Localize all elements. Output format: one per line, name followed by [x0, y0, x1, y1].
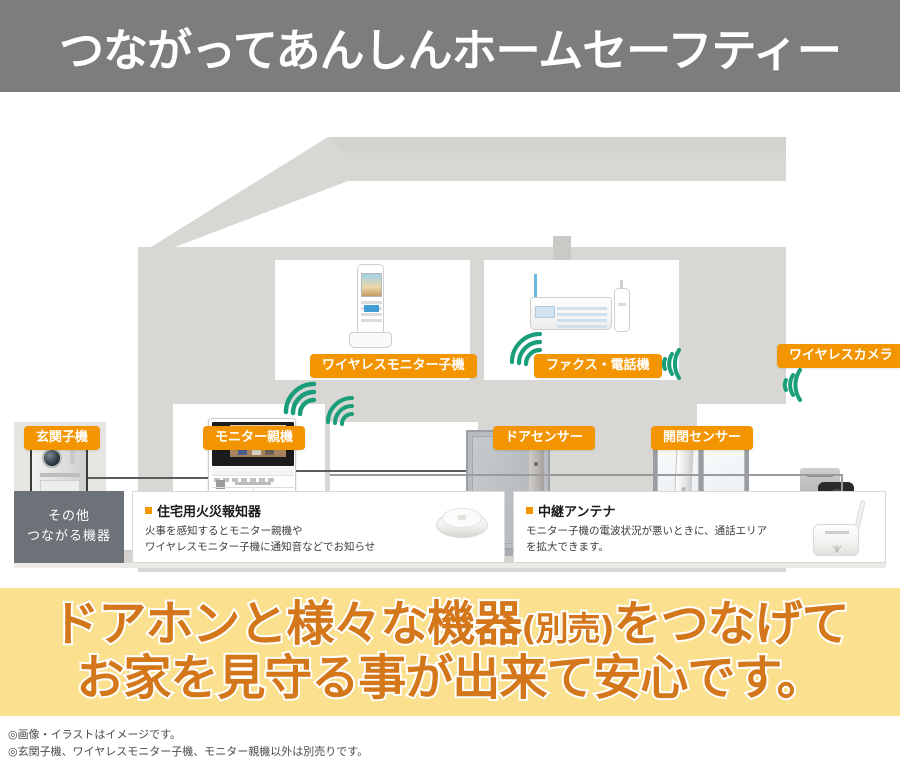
other-card-smoke-detector[interactable]: 住宅用火災報知器 火事を感知するとモニター親機や ワイヤレスモニター子機に通知音… [132, 491, 505, 563]
smoke-detector-desc-line2: ワイヤレスモニター子機に通知音などでお知らせ [145, 540, 492, 556]
label-wireless-monitor[interactable]: ワイヤレスモニター子機 [310, 354, 477, 378]
promo-banner: ドアホンと様々な機器(別売)をつなげて お家を見守る事が出来て安心です。 [0, 588, 900, 716]
monitor-button-row [212, 467, 294, 476]
smoke-detector-icon [436, 506, 488, 540]
antenna-wire-horizontal [330, 474, 843, 476]
promo-banner-line1: ドアホンと様々な機器(別売)をつなげて [51, 599, 848, 651]
wire-doorphone-to-monitor [88, 477, 208, 479]
footer-note-1: ◎画像・イラストはイメージです。 [8, 726, 888, 743]
smoke-detector-heading-text: 住宅用火災報知器 [157, 501, 261, 520]
repeater-antenna-icon [813, 500, 871, 556]
promo-banner-line2: お家を見守る事が出来て安心です。 [76, 653, 823, 705]
footer-note-2: ◎玄関子機、ワイヤレスモニター子機、モニター親機以外は別売りです。 [8, 743, 888, 760]
fax-cordless-handset [614, 288, 630, 332]
other-devices-heading-line2: つながる機器 [27, 527, 111, 547]
monitor-brand-logo [235, 482, 271, 485]
label-entrance-unit[interactable]: 玄関子機 [24, 426, 100, 450]
wireless-monitor-handset [357, 264, 384, 336]
footer-notes: ◎画像・イラストはイメージです。 ◎玄関子機、ワイヤレスモニター子機、モニター親… [8, 726, 888, 760]
house-diagram: ワイヤレスモニター子機 ファクス・電話機 玄関子機 モニター親機 ドアセンサー … [0, 92, 900, 484]
doorphone-brand-plate [40, 473, 80, 477]
bullet-square-icon [145, 507, 152, 514]
label-open-close-sensor[interactable]: 開閉センサー [651, 426, 753, 450]
label-fax-phone[interactable]: ファクス・電話機 [534, 354, 662, 378]
signal-waves-handset-icon [322, 392, 358, 426]
ground-shadow [14, 563, 886, 568]
signal-waves-camera-icon [772, 364, 804, 406]
handset-screen [361, 273, 382, 297]
doorphone-camera-lens-icon [42, 448, 62, 468]
label-door-sensor[interactable]: ドアセンサー [493, 426, 595, 450]
fax-keypad [557, 307, 607, 323]
page-title: つながってあんしんホームセーフティー [59, 14, 841, 79]
other-devices-strip: その他 つながる機器 住宅用火災報知器 火事を感知するとモニター親機や ワイヤレ… [14, 491, 886, 563]
other-card-repeater-antenna[interactable]: 中継アンテナ モニター子機の電波状況が悪いときに、通話エリア を拡大できます。 [513, 491, 886, 563]
handset-charging-dock [349, 332, 392, 348]
other-devices-heading-line1: その他 [48, 507, 90, 527]
label-monitor-master[interactable]: モニター親機 [203, 426, 305, 450]
fax-display [535, 306, 555, 318]
house-roof [118, 137, 786, 252]
handset-highlight-key [364, 305, 379, 312]
promo-line1-small: (別売) [521, 609, 613, 648]
promo-line1-part1: ドアホンと様々な機器 [51, 596, 521, 652]
signal-waves-monitor-icon [278, 376, 322, 416]
page-header: つながってあんしんホームセーフティー [0, 0, 900, 92]
promo-line1-part2: をつなげて [614, 596, 849, 652]
fax-phone-unit [530, 297, 612, 330]
repeater-antenna-heading-text: 中継アンテナ [538, 501, 615, 520]
label-wireless-camera[interactable]: ワイヤレスカメラ [777, 344, 900, 368]
other-devices-heading: その他 つながる機器 [14, 491, 124, 563]
bullet-square-icon [526, 507, 533, 514]
